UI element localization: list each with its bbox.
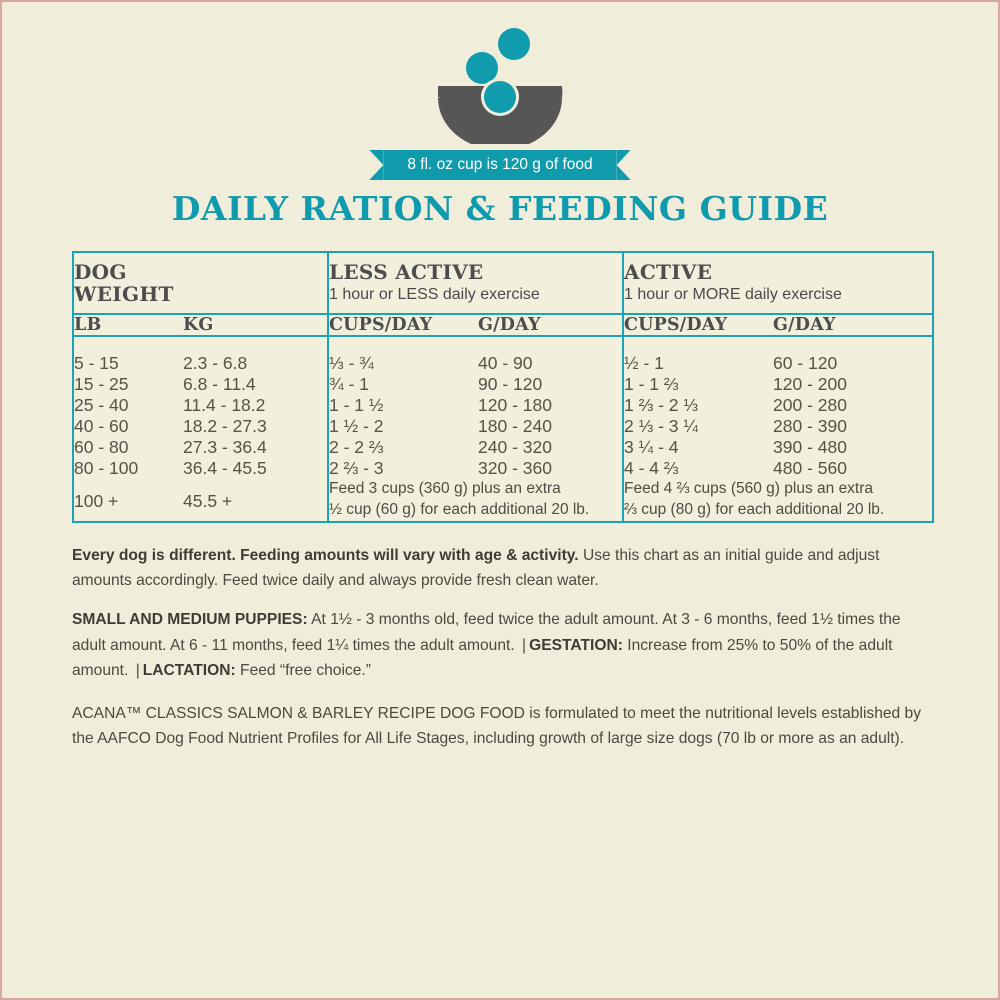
dog-food-bowl-icon — [430, 24, 570, 144]
group-title: LESS ACTIVE — [329, 261, 622, 283]
page-title: DAILY RATION & FEEDING GUIDE — [2, 192, 998, 229]
cell-active-grams: 480 - 560 — [773, 458, 933, 479]
cell-active-grams: 200 - 280 — [773, 395, 933, 416]
cell-less-active-cups: 1 - 1 ½ — [328, 395, 478, 416]
bowl-icon-wrap — [2, 24, 998, 144]
group-title: ACTIVE — [624, 261, 932, 283]
column-header-less-active-cups: CUPS/DAY — [328, 314, 478, 336]
cell-less-active-grams: 240 - 320 — [478, 437, 623, 458]
hero-section: 8 fl. oz cup is 120 g of food — [2, 2, 998, 192]
cell-less-active-cups: 2 - 2 ⅔ — [328, 437, 478, 458]
overflow-line-1: Feed 4 ⅔ cups (560 g) plus an extra — [624, 479, 932, 500]
cell-kg: 18.2 - 27.3 — [183, 416, 328, 437]
cell-active-cups: 1 - 1 ⅔ — [623, 374, 773, 395]
notes-section: Every dog is different. Feeding amounts … — [72, 543, 934, 752]
group-title-line1: DOG — [74, 260, 127, 284]
overflow-line-2: ⅔ cup (80 g) for each additional 20 lb. — [624, 500, 932, 521]
table-row: 80 - 100 36.4 - 45.5 2 ⅔ - 3 320 - 360 4… — [73, 458, 933, 479]
gestation-label: GESTATION: — [529, 637, 623, 654]
cell-active-cups: 3 ¼ - 4 — [623, 437, 773, 458]
cell-active-cups: 1 ⅔ - 2 ⅓ — [623, 395, 773, 416]
cell-kg: 27.3 - 36.4 — [183, 437, 328, 458]
group-header-less-active: LESS ACTIVE 1 hour or LESS daily exercis… — [328, 252, 623, 314]
feeding-guide-page: 8 fl. oz cup is 120 g of food DAILY RATI… — [2, 2, 998, 998]
note-general: Every dog is different. Feeding amounts … — [72, 543, 934, 594]
table-row: 40 - 60 18.2 - 27.3 1 ½ - 2 180 - 240 2 … — [73, 416, 933, 437]
table-row: 15 - 25 6.8 - 11.4 ¾ - 1 90 - 120 1 - 1 … — [73, 374, 933, 395]
cell-active-overflow-note: Feed 4 ⅔ cups (560 g) plus an extra ⅔ cu… — [623, 479, 933, 522]
cell-active-grams: 390 - 480 — [773, 437, 933, 458]
cell-active-grams: 120 - 200 — [773, 374, 933, 395]
column-header-kg: KG — [183, 314, 328, 336]
cell-kg: 36.4 - 45.5 — [183, 458, 328, 479]
note-separator: | — [519, 637, 529, 654]
column-header-lb: LB — [73, 314, 183, 336]
column-header-active-cups: CUPS/DAY — [623, 314, 773, 336]
overflow-line-2: ½ cup (60 g) for each additional 20 lb. — [329, 500, 622, 521]
cell-lb: 5 - 15 — [73, 336, 183, 374]
note-general-lead: Every dog is different. Feeding amounts … — [72, 547, 579, 564]
banner-label: 8 fl. oz cup is 120 g of food — [407, 156, 592, 173]
cell-less-active-grams: 90 - 120 — [478, 374, 623, 395]
cup-conversion-banner: 8 fl. oz cup is 120 g of food — [383, 150, 616, 180]
table-row: 60 - 80 27.3 - 36.4 2 - 2 ⅔ 240 - 320 3 … — [73, 437, 933, 458]
cell-lb: 60 - 80 — [73, 437, 183, 458]
group-subtitle: 1 hour or MORE daily exercise — [624, 283, 932, 305]
cell-lb: 25 - 40 — [73, 395, 183, 416]
cell-less-active-grams: 40 - 90 — [478, 336, 623, 374]
lactation-text: Feed “free choice.” — [236, 662, 371, 679]
cell-kg: 6.8 - 11.4 — [183, 374, 328, 395]
group-title-line2: WEIGHT — [74, 282, 174, 306]
table-row-overflow: 100 + 45.5 + Feed 3 cups (360 g) plus an… — [73, 479, 933, 522]
table-column-header-row: LB KG CUPS/DAY G/DAY CUPS/DAY G/DAY — [73, 314, 933, 336]
overflow-line-1: Feed 3 cups (360 g) plus an extra — [329, 479, 622, 500]
feeding-table-wrap: DOG WEIGHT LESS ACTIVE 1 hour or LESS da… — [72, 251, 928, 523]
table-group-header-row: DOG WEIGHT LESS ACTIVE 1 hour or LESS da… — [73, 252, 933, 314]
cell-less-active-cups: 2 ⅔ - 3 — [328, 458, 478, 479]
cell-less-active-grams: 120 - 180 — [478, 395, 623, 416]
cell-less-active-grams: 320 - 360 — [478, 458, 623, 479]
cell-less-active-cups: ¾ - 1 — [328, 374, 478, 395]
cell-active-cups: 4 - 4 ⅔ — [623, 458, 773, 479]
daily-ration-table: DOG WEIGHT LESS ACTIVE 1 hour or LESS da… — [72, 251, 934, 523]
cell-kg: 2.3 - 6.8 — [183, 336, 328, 374]
table-row: 5 - 15 2.3 - 6.8 ⅓ - ¾ 40 - 90 ½ - 1 60 … — [73, 336, 933, 374]
column-header-less-active-grams: G/DAY — [478, 314, 623, 336]
puppies-label: SMALL AND MEDIUM PUPPIES: — [72, 611, 308, 628]
note-separator: | — [133, 662, 143, 679]
column-header-active-grams: G/DAY — [773, 314, 933, 336]
cell-active-grams: 280 - 390 — [773, 416, 933, 437]
cell-lb: 15 - 25 — [73, 374, 183, 395]
table-row: 25 - 40 11.4 - 18.2 1 - 1 ½ 120 - 180 1 … — [73, 395, 933, 416]
cell-lb: 100 + — [73, 479, 183, 522]
group-header-dog-weight: DOG WEIGHT — [73, 252, 328, 314]
cell-active-cups: ½ - 1 — [623, 336, 773, 374]
group-subtitle: 1 hour or LESS daily exercise — [329, 283, 622, 305]
cell-less-active-overflow-note: Feed 3 cups (360 g) plus an extra ½ cup … — [328, 479, 623, 522]
note-life-stages: SMALL AND MEDIUM PUPPIES: At 1½ - 3 mont… — [72, 607, 934, 683]
cell-kg: 45.5 + — [183, 479, 328, 522]
cell-active-cups: 2 ⅓ - 3 ¼ — [623, 416, 773, 437]
cell-lb: 80 - 100 — [73, 458, 183, 479]
cell-kg: 11.4 - 18.2 — [183, 395, 328, 416]
cell-lb: 40 - 60 — [73, 416, 183, 437]
group-header-active: ACTIVE 1 hour or MORE daily exercise — [623, 252, 933, 314]
cell-active-grams: 60 - 120 — [773, 336, 933, 374]
cell-less-active-grams: 180 - 240 — [478, 416, 623, 437]
cell-less-active-cups: ⅓ - ¾ — [328, 336, 478, 374]
lactation-label: LACTATION: — [143, 662, 236, 679]
cell-less-active-cups: 1 ½ - 2 — [328, 416, 478, 437]
aafco-statement: ACANA™ CLASSICS SALMON & BARLEY RECIPE D… — [72, 701, 934, 752]
